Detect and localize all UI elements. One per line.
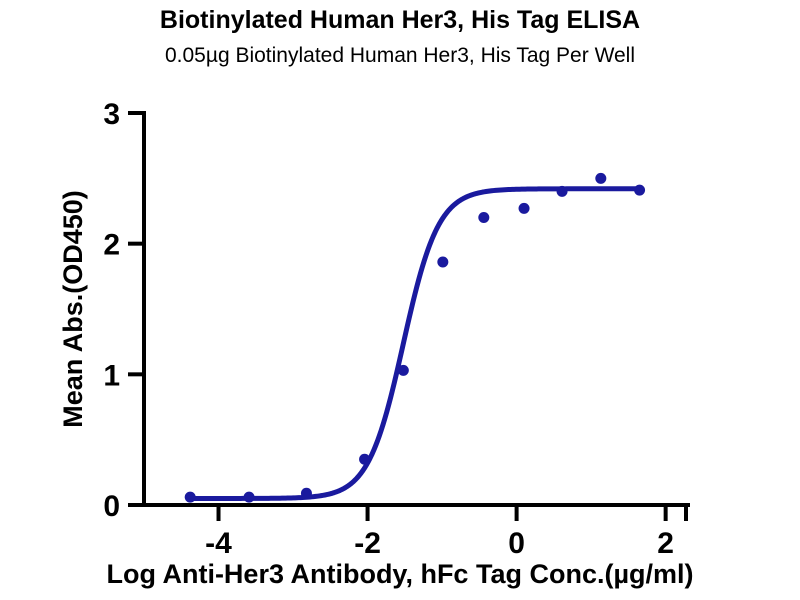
data-point <box>185 492 196 503</box>
y-tick-label-1: 1 <box>103 359 120 392</box>
y-axis-title: Mean Abs.(OD450) <box>58 190 88 428</box>
figure-background <box>0 0 800 600</box>
data-point <box>437 256 448 267</box>
x-tick-label-2: 2 <box>657 527 674 560</box>
data-point <box>359 454 370 465</box>
x-axis-title: Log Anti-Her3 Antibody, hFc Tag Conc.(µg… <box>106 559 693 589</box>
data-point <box>634 185 645 196</box>
data-point <box>301 488 312 499</box>
y-tick-label-0: 0 <box>103 490 120 523</box>
data-point <box>557 186 568 197</box>
x-tick-label--2: -2 <box>354 527 381 560</box>
y-tick-label-2: 2 <box>103 229 120 262</box>
data-point <box>519 203 530 214</box>
data-point <box>244 492 255 503</box>
data-point <box>398 365 409 376</box>
x-tick-label--4: -4 <box>205 527 232 560</box>
y-tick-label-3: 3 <box>103 98 120 131</box>
data-point <box>595 173 606 184</box>
x-tick-label-0: 0 <box>508 527 525 560</box>
elisa-chart-figure: Biotinylated Human Her3, His Tag ELISA 0… <box>0 0 800 600</box>
data-point <box>478 212 489 223</box>
chart-title: Biotinylated Human Her3, His Tag ELISA <box>160 6 640 34</box>
chart-subtitle: 0.05µg Biotinylated Human Her3, His Tag … <box>165 44 635 67</box>
